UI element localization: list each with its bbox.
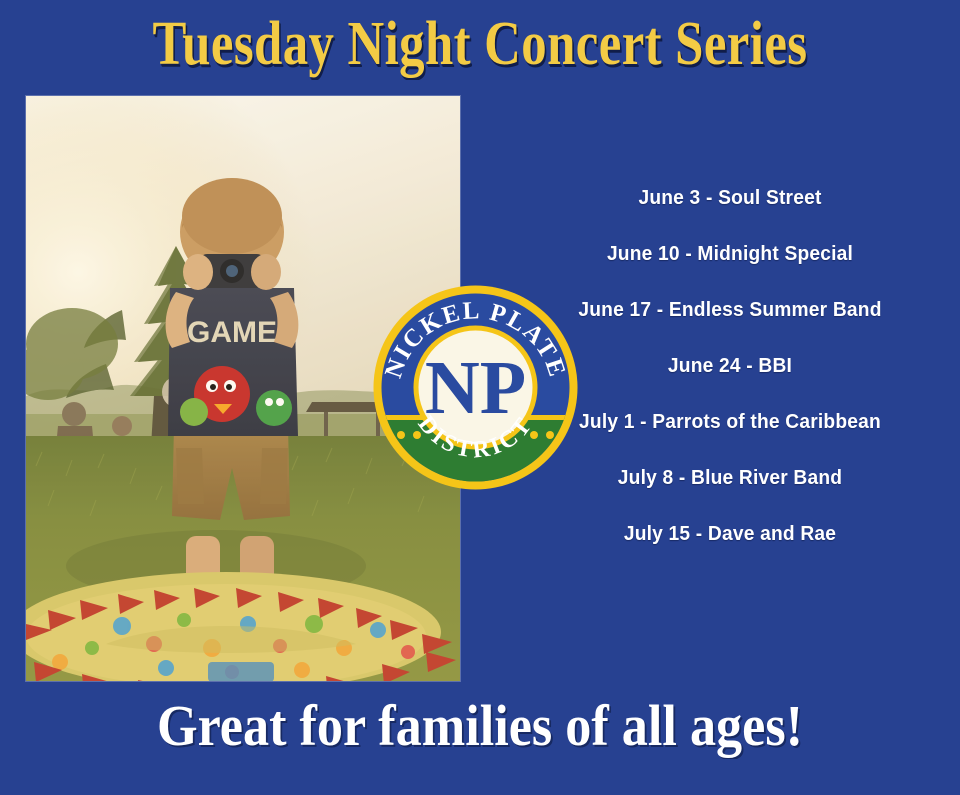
list-item: June 17 - Endless Summer Band xyxy=(509,298,951,322)
concert-series-poster: Tuesday Night Concert Series xyxy=(0,0,960,795)
list-item: June 24 - BBI xyxy=(509,354,951,378)
concert-schedule-list: June 3 - Soul Street June 10 - Midnight … xyxy=(500,186,960,546)
page-title: Tuesday Night Concert Series xyxy=(86,8,873,80)
tagline: Great for families of all ages! xyxy=(48,692,912,760)
list-item: July 8 - Blue River Band xyxy=(509,466,951,490)
list-item: July 1 - Parrots of the Caribbean xyxy=(509,410,951,434)
list-item: June 3 - Soul Street xyxy=(509,186,951,210)
list-item: July 15 - Dave and Rae xyxy=(509,522,951,546)
list-item: June 10 - Midnight Special xyxy=(509,242,951,266)
